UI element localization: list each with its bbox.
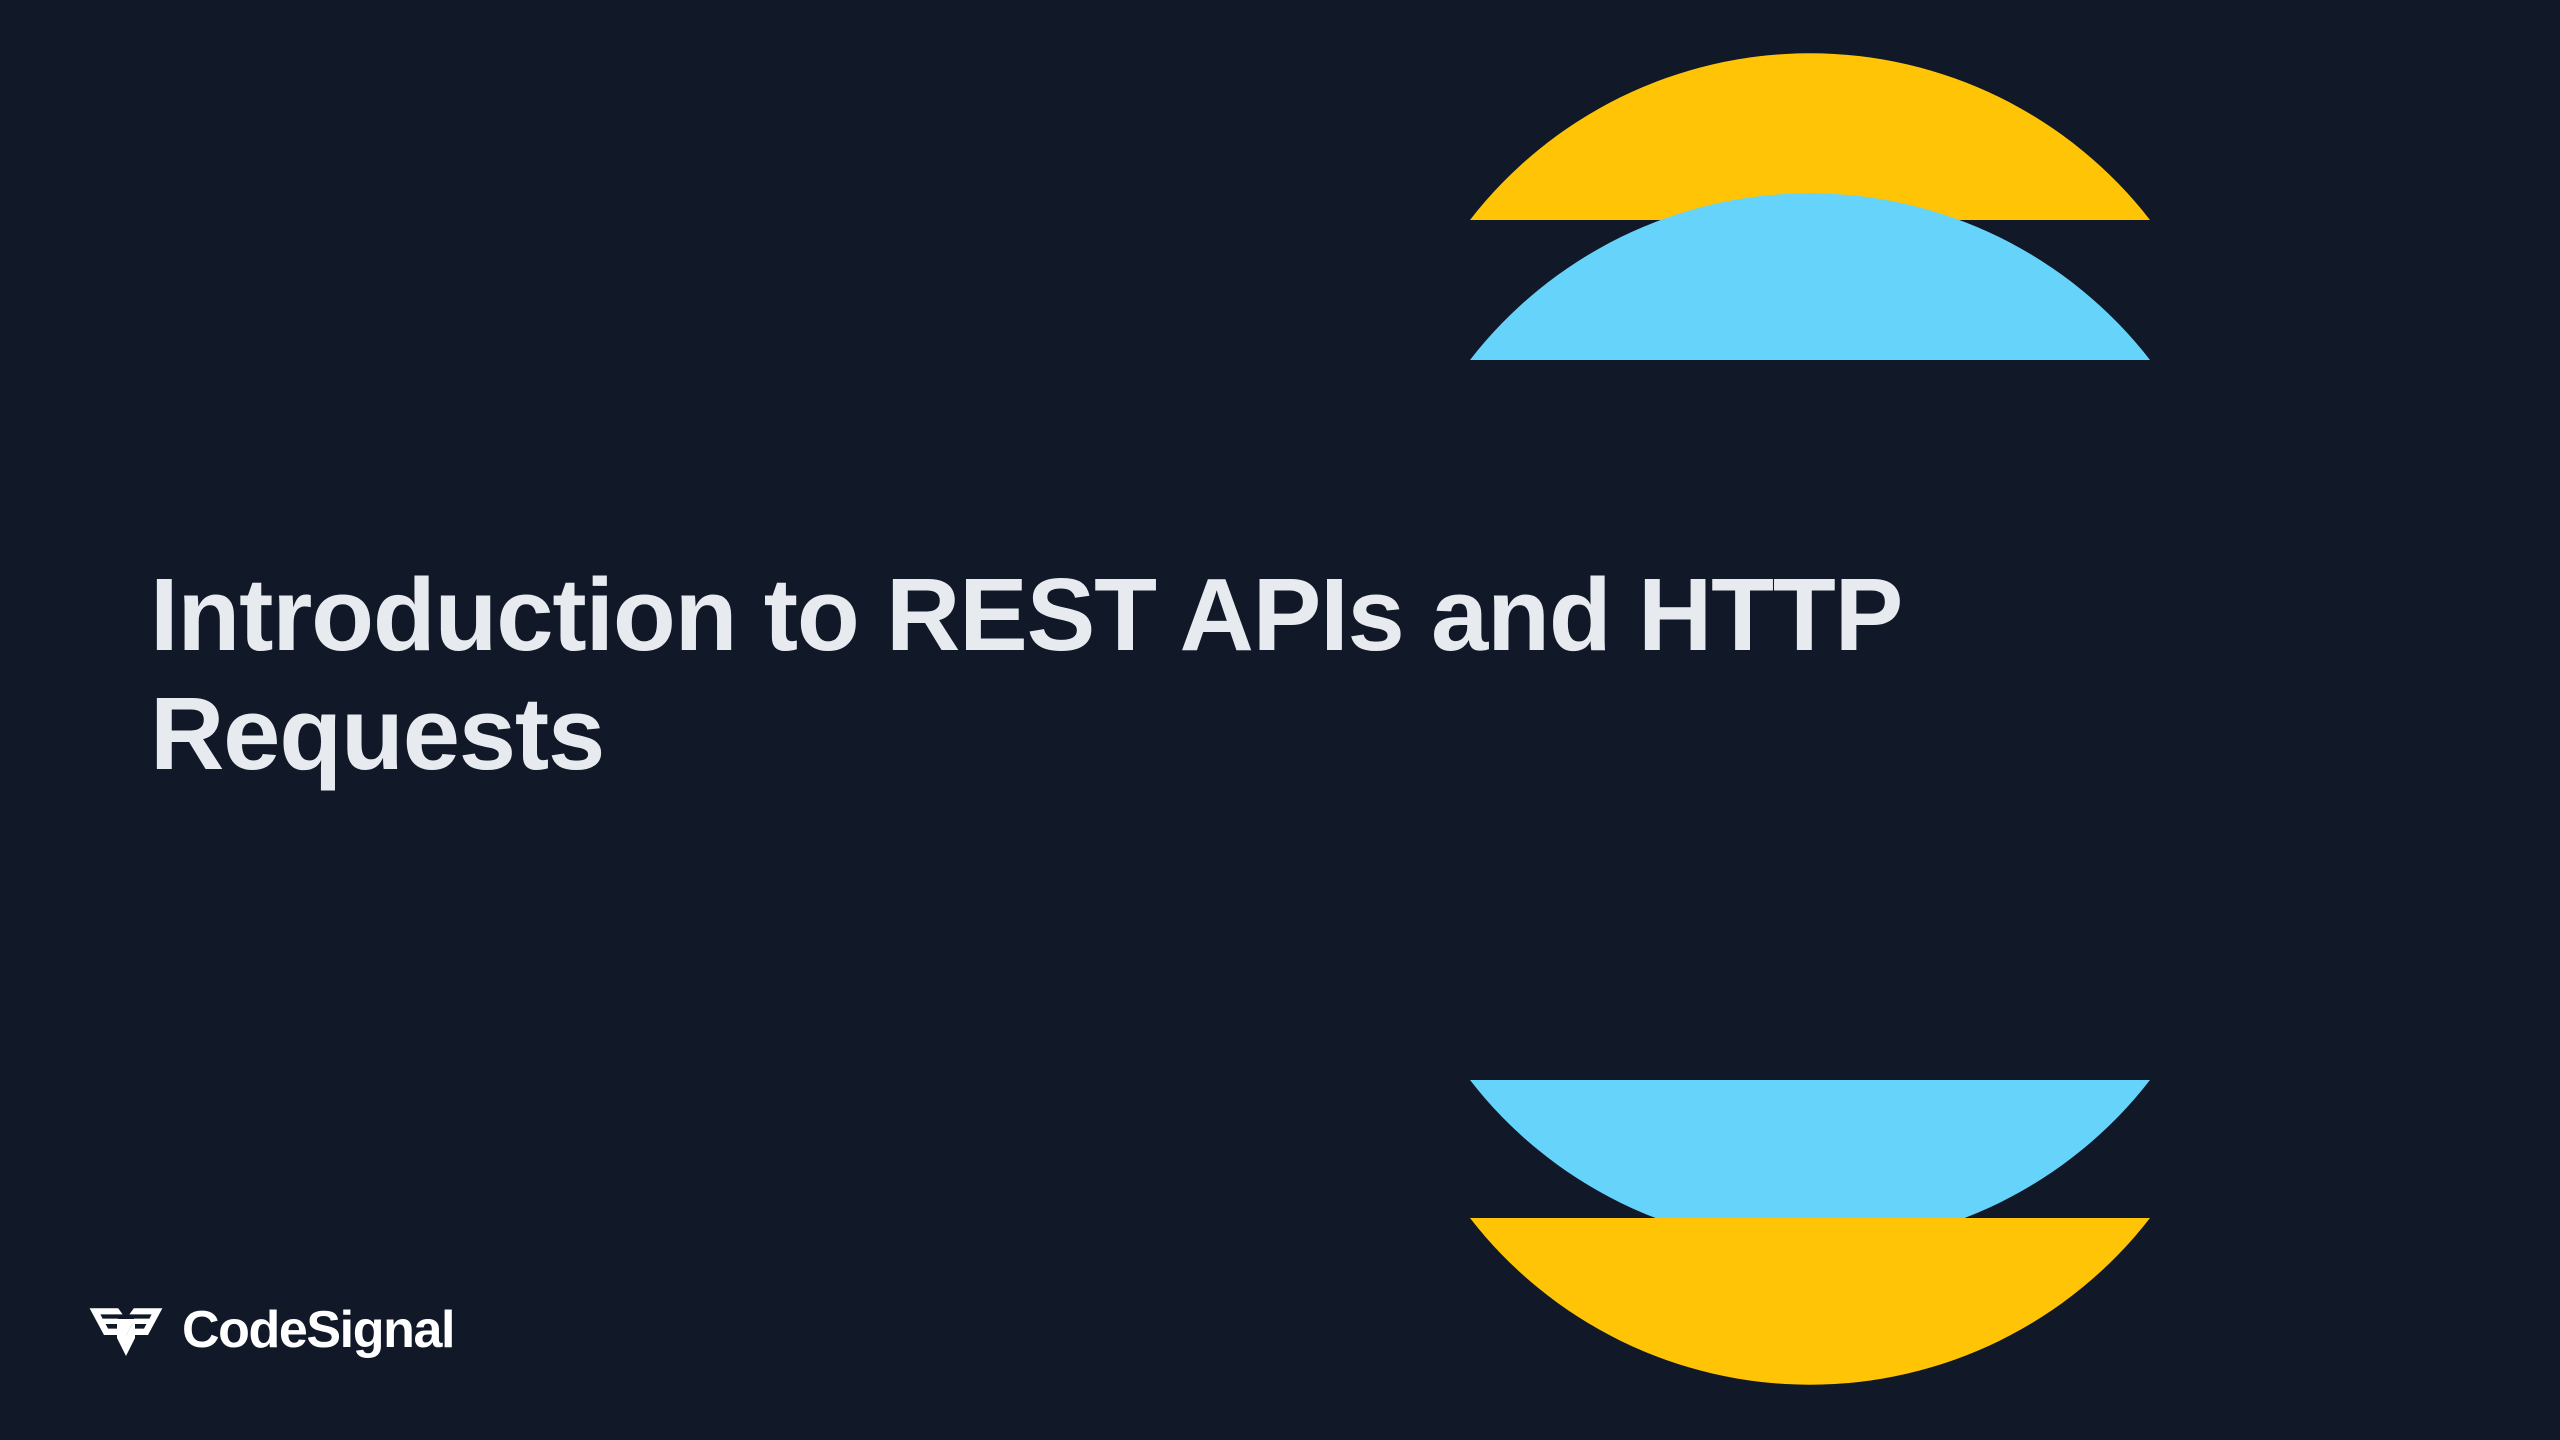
bottom-arc-group [1470, 1070, 2150, 1370]
yellow-arc-up [1470, 53, 2150, 220]
brand-wordmark: CodeSignal [182, 1304, 454, 1356]
title-slide: Introduction to REST APIs and HTTP Reque… [0, 0, 2560, 1440]
yellow-arc-down [1470, 1218, 2150, 1385]
title-block: Introduction to REST APIs and HTTP Reque… [150, 555, 2380, 794]
page-title: Introduction to REST APIs and HTTP Reque… [150, 555, 2380, 794]
codesignal-falcon-icon [88, 1302, 164, 1358]
brand-logo: CodeSignal [88, 1302, 454, 1358]
top-arc-group [1470, 50, 2150, 370]
blue-arc-down [1470, 1080, 2150, 1247]
blue-arc-up [1470, 193, 2150, 360]
